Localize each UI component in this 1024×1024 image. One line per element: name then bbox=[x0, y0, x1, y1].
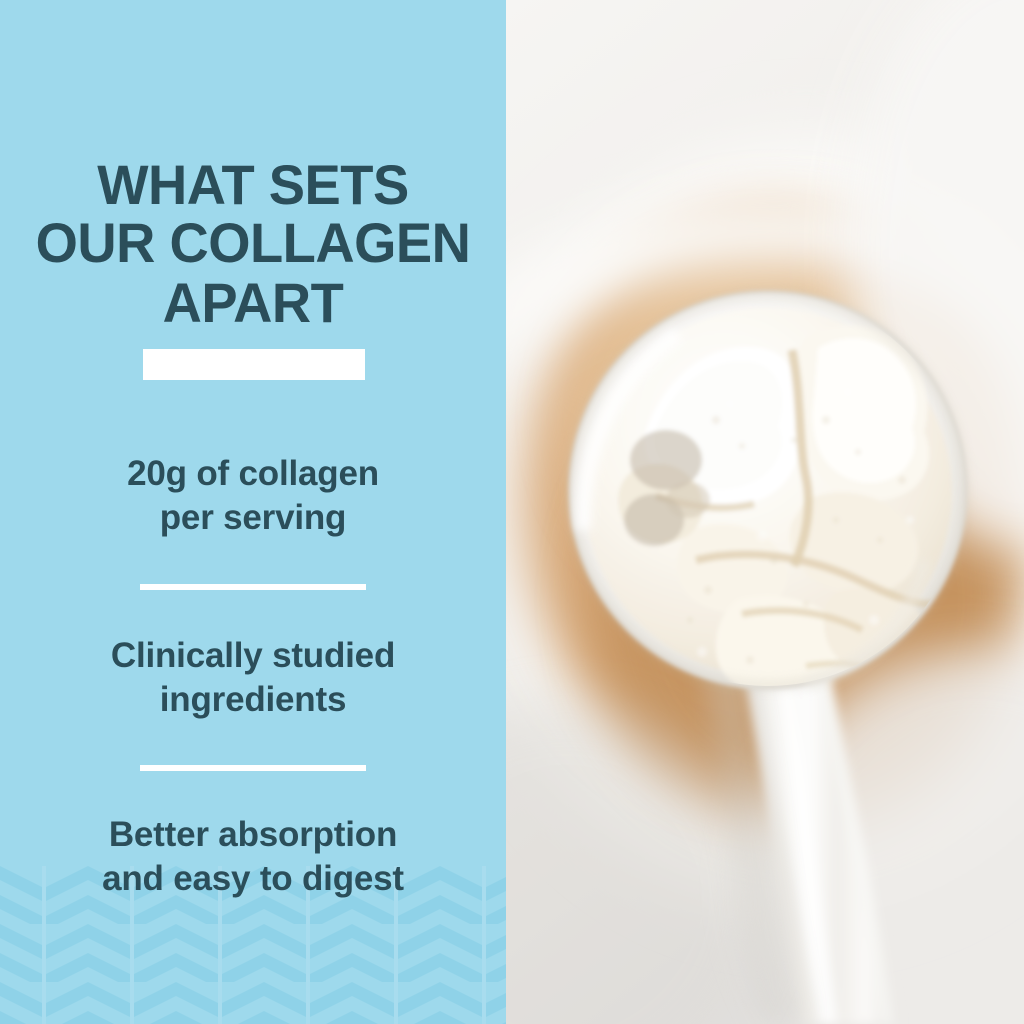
list-item: Clinically studied ingredients bbox=[0, 634, 506, 722]
benefit-0-line-1: 20g of collagen bbox=[0, 452, 506, 496]
benefit-list: 20g of collagen per serving Clinically s… bbox=[0, 452, 506, 901]
benefit-1-line-1: Clinically studied bbox=[0, 634, 506, 678]
benefit-divider bbox=[140, 765, 366, 771]
marketing-graphic: WHAT SETS OUR COLLAGEN APART 20g of coll… bbox=[0, 0, 1024, 1024]
headline-highlight-bar bbox=[143, 349, 365, 380]
product-photo bbox=[506, 0, 1024, 1024]
benefit-0-line-2: per serving bbox=[0, 496, 506, 540]
benefit-2-line-2: and easy to digest bbox=[0, 857, 506, 901]
benefit-1-line-2: ingredients bbox=[0, 678, 506, 722]
headline-line-3: APART bbox=[8, 274, 499, 332]
list-item: Better absorption and easy to digest bbox=[0, 813, 506, 901]
headline-line-1: WHAT SETS bbox=[8, 156, 499, 214]
benefit-2-line-1: Better absorption bbox=[0, 813, 506, 857]
page-title: WHAT SETS OUR COLLAGEN APART bbox=[0, 156, 506, 332]
headline-line-2: OUR COLLAGEN bbox=[8, 214, 499, 272]
info-panel: WHAT SETS OUR COLLAGEN APART 20g of coll… bbox=[0, 0, 506, 1024]
benefit-divider bbox=[140, 584, 366, 590]
list-item: 20g of collagen per serving bbox=[0, 452, 506, 540]
